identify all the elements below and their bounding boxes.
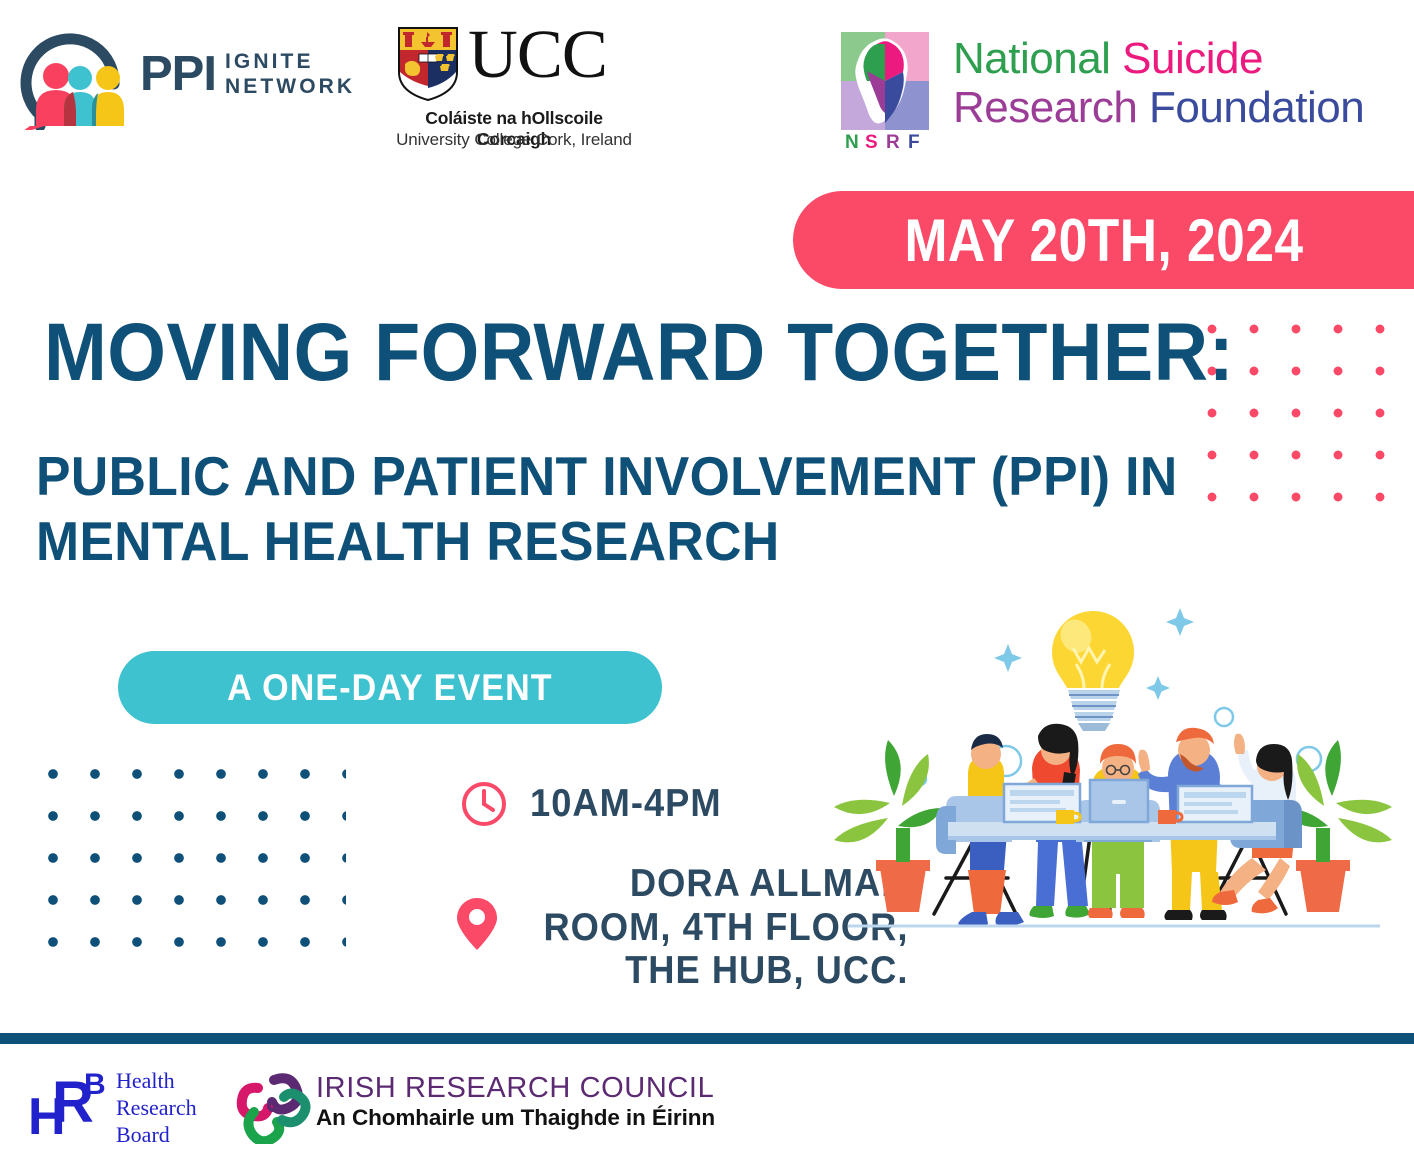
hrb-wordmark: Health Research Board	[116, 1068, 197, 1148]
nsrf-word-suicide: Suicide	[1122, 34, 1263, 83]
ucc-english-name: University College Cork, Ireland	[396, 130, 632, 150]
svg-text:B: B	[84, 1068, 106, 1101]
date-banner-text: MAY 20TH, 2024	[904, 206, 1303, 275]
blue-dot-pattern	[28, 747, 346, 979]
nsrf-line-2: Research Foundation	[953, 83, 1364, 132]
laptop-center	[1090, 780, 1148, 822]
hrb-line-research: Research	[116, 1095, 197, 1122]
irish-research-council-logo: IRISH RESEARCH COUNCIL An Chomhairle um …	[234, 1068, 599, 1144]
laptop-right	[1178, 786, 1252, 822]
ppi-acronym: PPI	[140, 50, 216, 99]
page-title: MOVING FORWARD TOGETHER:	[44, 312, 1234, 394]
plant-left	[834, 740, 942, 912]
hrb-line-board: Board	[116, 1122, 197, 1149]
irc-name-english: IRISH RESEARCH COUNCIL	[316, 1072, 714, 1105]
nsrf-word-research: Research	[953, 83, 1137, 132]
nsrf-letter-n: N	[845, 132, 859, 153]
hrb-monogram-icon: H R B	[30, 1068, 112, 1140]
event-poster: PPI IGNITE NETWORK	[0, 0, 1414, 1162]
nsrf-line-1: National Suicide	[953, 34, 1364, 83]
health-research-board-logo: H R B Health Research Board	[30, 1064, 212, 1146]
nsrf-ireland-map-icon: N S R F	[833, 28, 939, 154]
nsrf-letter-s: S	[865, 132, 878, 153]
ppi-wordmark: PPI IGNITE NETWORK	[140, 50, 355, 100]
map-pin-icon	[456, 896, 498, 952]
event-time-row: 10AM-4PM	[460, 780, 736, 828]
clock-icon	[460, 780, 508, 828]
ucc-crest-icon	[397, 26, 459, 102]
ppi-line-network: NETWORK	[225, 75, 355, 100]
footer-divider	[0, 1033, 1414, 1044]
team-collaboration-illustration	[828, 578, 1398, 934]
page-subtitle: PUBLIC AND PATIENT INVOLVEMENT (PPI) IN …	[36, 444, 1267, 574]
nsrf-logo: N S R F National Suicide Research Founda…	[833, 26, 1403, 154]
event-type-badge: A ONE-DAY EVENT	[118, 651, 662, 724]
nsrf-word-national: National	[953, 34, 1110, 83]
irc-celtic-swirl-icon	[234, 1068, 312, 1144]
event-time-text: 10AM-4PM	[530, 782, 722, 826]
ucc-logo: UCC Coláiste na hOllscoile Corcaigh Univ…	[392, 26, 632, 151]
nsrf-letter-f: F	[908, 132, 920, 153]
ppi-line-ignite: IGNITE	[225, 50, 355, 75]
ppi-ignite-mark-icon	[18, 30, 126, 130]
irc-name-irish: An Chomhairle um Thaighde in Éirinn	[316, 1105, 715, 1131]
nsrf-wordmark: National Suicide Research Foundation	[953, 34, 1364, 133]
nsrf-word-foundation: Foundation	[1149, 83, 1364, 132]
ucc-letters: UCC	[468, 20, 607, 89]
header-logo-bar: PPI IGNITE NETWORK	[0, 0, 1414, 175]
event-type-badge-text: A ONE-DAY EVENT	[227, 667, 553, 709]
hrb-line-health: Health	[116, 1068, 197, 1095]
date-banner: MAY 20TH, 2024	[793, 191, 1414, 289]
ppi-ignite-network-logo: PPI IGNITE NETWORK	[18, 28, 363, 133]
nsrf-letter-r: R	[886, 132, 900, 153]
